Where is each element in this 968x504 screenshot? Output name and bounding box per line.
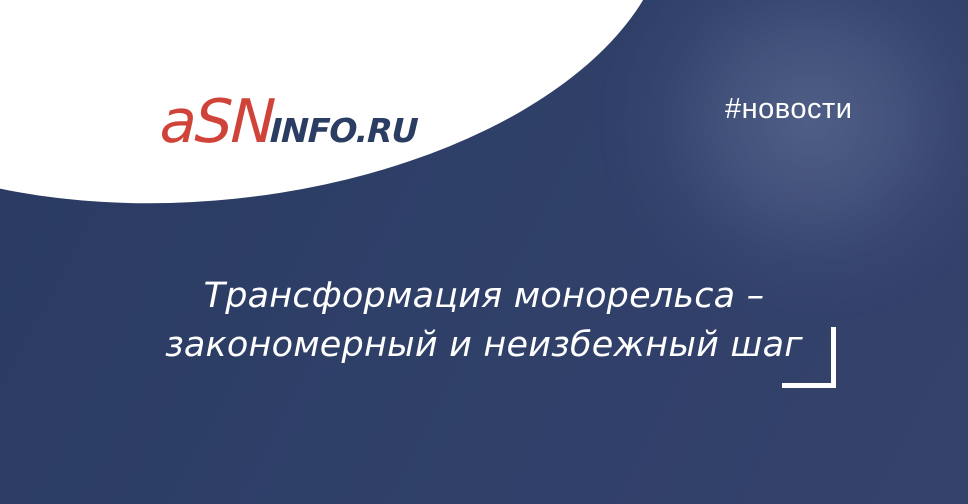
corner-bracket-vertical-arm [831,327,836,388]
logo-secondary-text: INFO.RU [269,114,418,147]
news-card: aSNINFO.RU #новости Трансформация моноре… [0,0,968,504]
logo-primary-text: aSN [159,92,275,152]
headline-line-2: закономерный и неизбежный шаг [90,321,878,370]
hashtag-label[interactable]: #новости [725,93,852,126]
corner-bracket-horizontal-arm [782,383,836,388]
asninfo-logo[interactable]: aSNINFO.RU [160,92,417,152]
headline-line-1: Трансформация монорельса – [90,272,878,321]
corner-bracket-icon [782,327,836,388]
